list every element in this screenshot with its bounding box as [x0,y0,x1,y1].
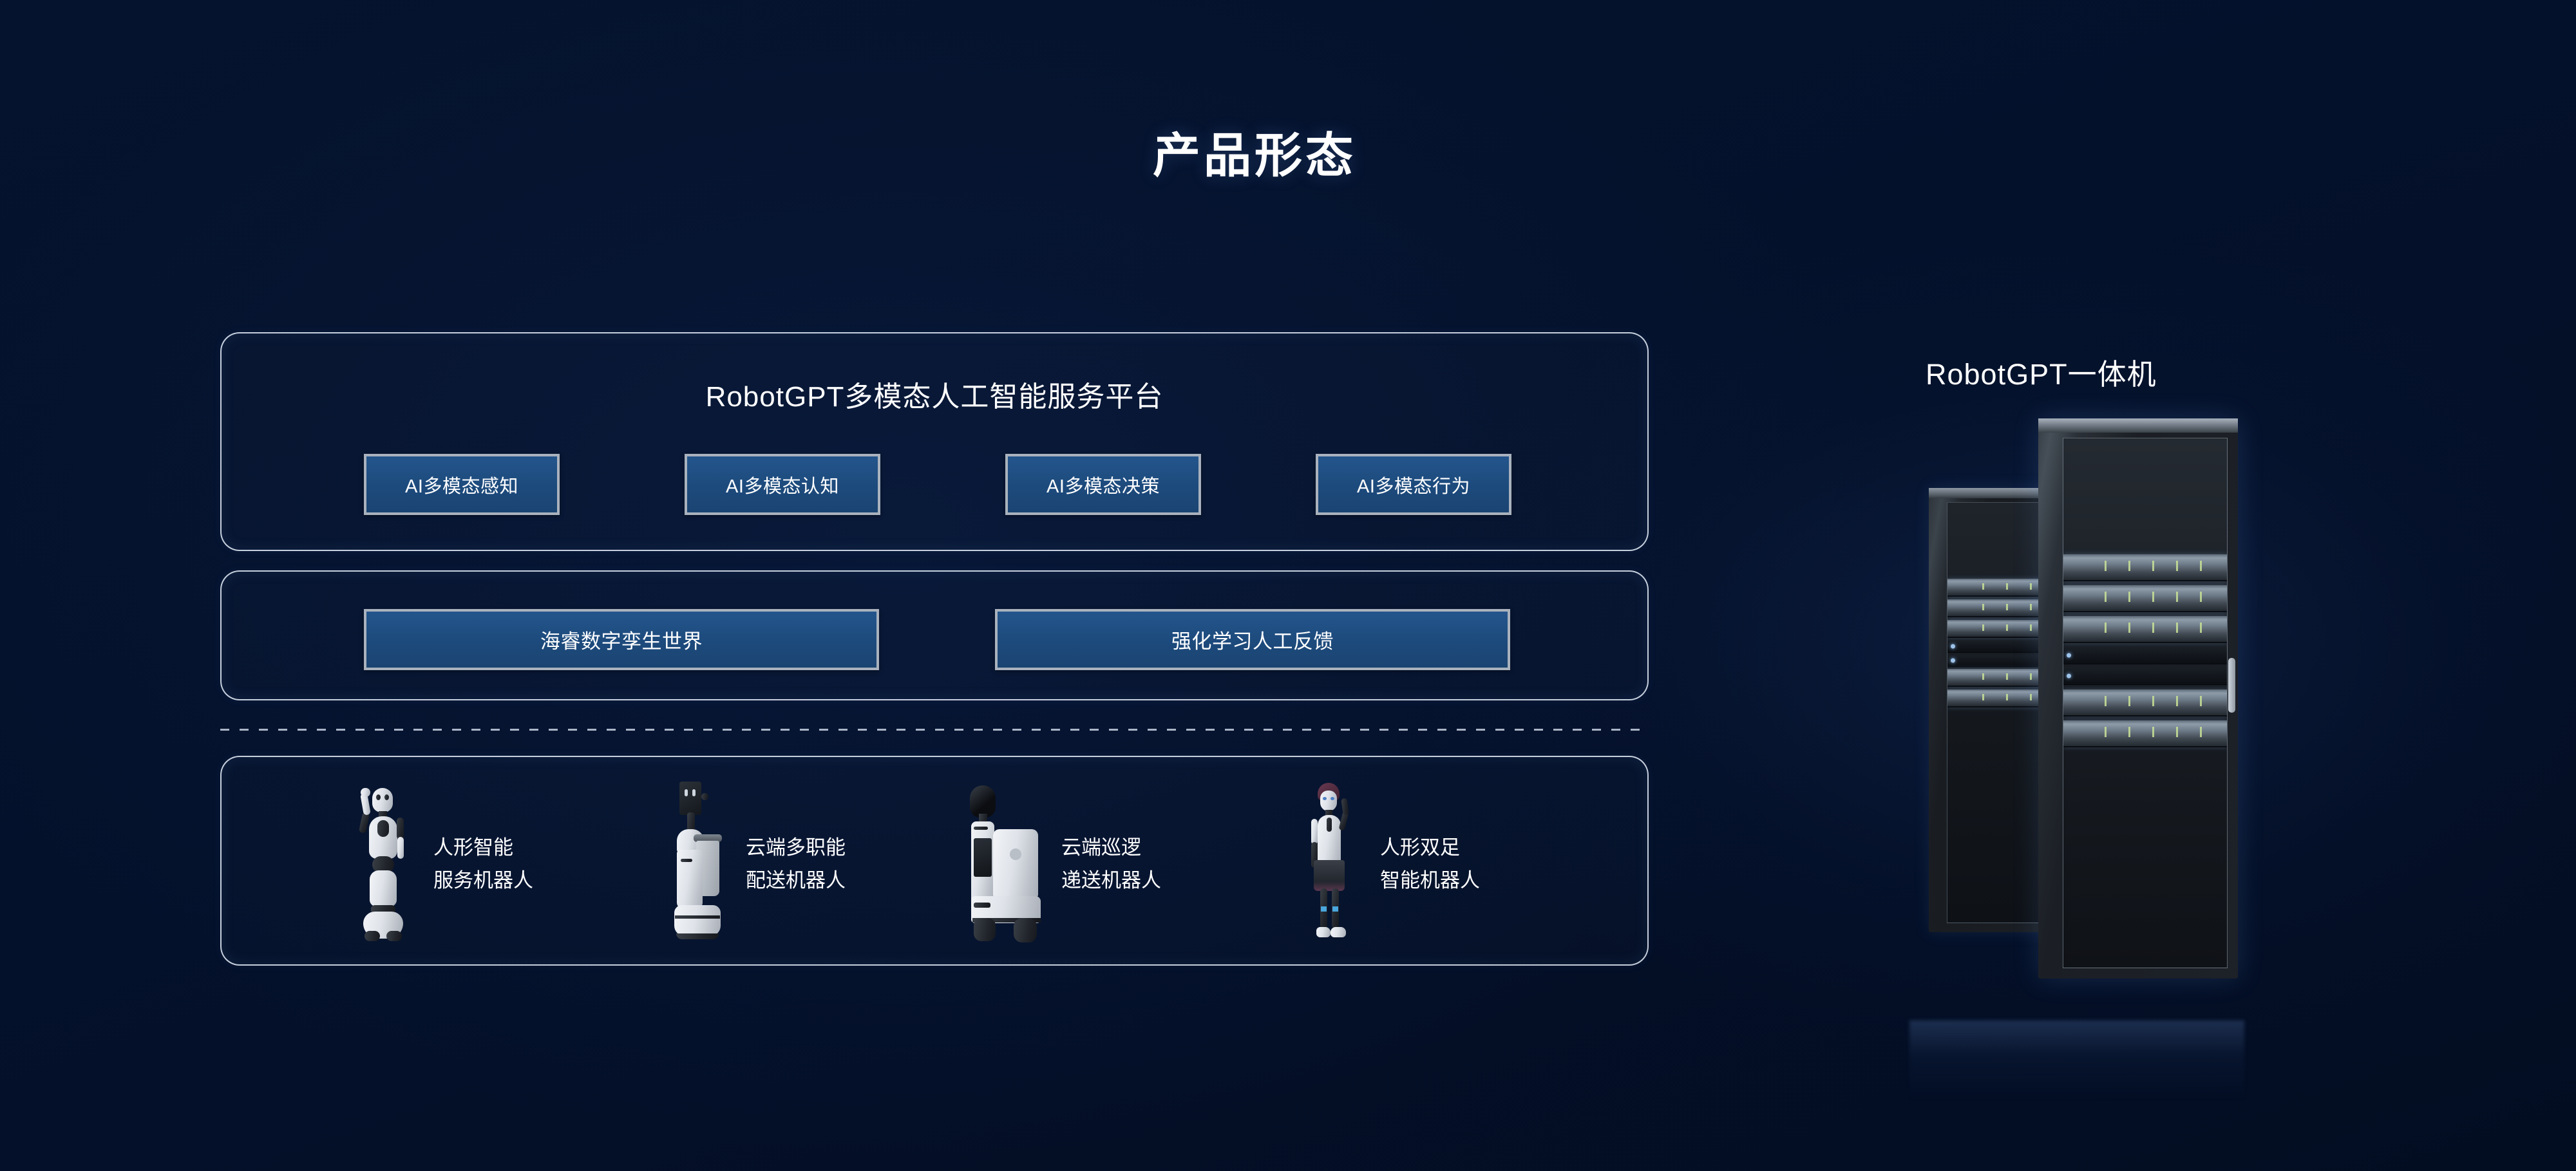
product-label: 人形双足 智能机器人 [1380,832,1480,896]
blank-panel [2063,647,2227,664]
blade-shelf [2063,616,2227,643]
product-item-patrol-delivery[interactable]: 云端巡逻 递送机器人 [960,779,1262,950]
blade-shelf [2063,720,2227,747]
slide-canvas: 产品形态 RobotGPT多模态人工智能服务平台 AI多模态感知 AI多模态认知… [0,0,2576,1171]
cloud-delivery-robot-icon [660,779,734,950]
humanoid-service-robot-icon [348,779,422,950]
bipedal-humanoid-robot-icon [1294,779,1368,950]
module-chip-decision[interactable]: AI多模态决策 [1005,454,1201,515]
product-label-line2: 配送机器人 [746,865,846,897]
product-item-humanoid-service[interactable]: 人形智能 服务机器人 [348,779,618,950]
product-label-line1: 云端巡逻 [1061,836,1141,859]
product-item-bipedal-humanoid[interactable]: 人形双足 智能机器人 [1294,779,1565,950]
engine-bar-digital-twin[interactable]: 海睿数字孪生世界 [364,609,879,670]
product-label-line1: 人形智能 [433,836,513,859]
section-divider [220,729,1649,731]
cabinet-top-cap [2038,418,2238,433]
product-item-cloud-delivery[interactable]: 云端多职能 配送机器人 [660,779,931,950]
server-cabinet-front [2038,418,2238,979]
product-label: 云端多职能 配送机器人 [746,832,846,896]
engine-bar-rlhf[interactable]: 强化学习人工反馈 [995,609,1510,670]
product-label-line2: 智能机器人 [1380,865,1480,897]
platform-title: RobotGPT多模态人工智能服务平台 [220,373,1649,415]
blank-panel [2063,668,2227,685]
product-label: 人形智能 服务机器人 [433,832,533,896]
server-rack-icon [1906,418,2248,1030]
product-label: 云端巡逻 递送机器人 [1061,832,1161,896]
page-title: 产品形态 [0,117,1356,186]
patrol-delivery-robot-icon [960,779,1056,950]
product-label-line2: 服务机器人 [433,865,533,897]
product-label-line1: 人形双足 [1380,836,1460,859]
blade-shelf [2063,585,2227,612]
blade-shelf [2063,554,2227,581]
module-chip-behavior[interactable]: AI多模态行为 [1316,454,1511,515]
cabinet-door-handle[interactable] [2228,658,2235,713]
appliance-title: RobotGPT一体机 [1926,351,2157,393]
module-chip-perception[interactable]: AI多模态感知 [364,454,560,515]
blade-shelf [2063,689,2227,717]
module-chip-cognition[interactable]: AI多模态认知 [685,454,880,515]
product-label-line1: 云端多职能 [746,836,846,859]
cabinet-inner [2063,438,2228,968]
product-label-line2: 递送机器人 [1061,865,1161,897]
platform-card [220,332,1649,551]
rack-floor-reflection [1909,1020,2244,1101]
